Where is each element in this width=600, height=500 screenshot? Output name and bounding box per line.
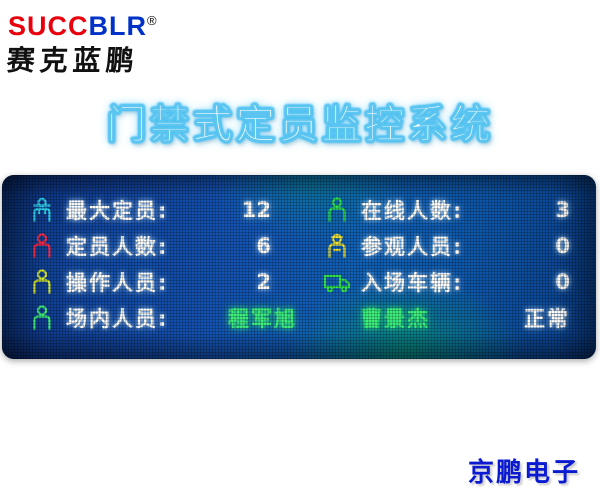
- led-value: 2: [228, 270, 297, 294]
- led-label: 在线人数:: [361, 195, 523, 225]
- led-value: 0: [523, 270, 596, 294]
- led-field-online-count: 在线人数: 3: [297, 192, 596, 228]
- footer-company-name: 京鹏电子: [468, 452, 580, 489]
- led-field-assigned-count: 定员人数: 6: [2, 228, 297, 264]
- led-field-onsite-status: 曹景杰 正常: [297, 300, 596, 336]
- person-icon: [26, 304, 58, 332]
- logo-chinese-wordmark: 赛克蓝鹏: [5, 43, 228, 79]
- led-field-max-capacity: 最大定员: 12: [2, 192, 297, 228]
- led-label: 操作人员:: [66, 267, 228, 297]
- led-value: 6: [228, 234, 297, 258]
- led-value: 12: [228, 198, 297, 222]
- person-cap-icon: [26, 196, 58, 224]
- person-helmet-icon: [321, 232, 353, 260]
- led-row: 最大定员: 12 在线人数: 3: [2, 192, 596, 228]
- person-icon: [321, 196, 353, 224]
- led-field-visitor-count: 参观人员: 0: [297, 228, 596, 264]
- led-label: 场内人员:: [66, 303, 220, 333]
- person-icon: [26, 232, 58, 260]
- led-display-panel: 最大定员: 12 在线人数: 3: [2, 175, 596, 359]
- logo-latin-succ: SUCC: [8, 11, 89, 41]
- led-label: 定员人数:: [66, 231, 228, 261]
- onsite-person-name: 程军旭: [220, 303, 297, 333]
- status-badge: 正常: [477, 303, 596, 333]
- led-row: 场内人员: 程军旭 曹景杰 正常: [2, 300, 596, 336]
- led-field-vehicles-entered: 入场车辆: 0: [297, 264, 596, 300]
- company-logo: SUCCBLR® 赛克蓝鹏: [8, 6, 228, 78]
- logo-latin-blr: BLR: [89, 11, 148, 41]
- onsite-person-name: 曹景杰: [353, 303, 477, 333]
- registered-trademark-icon: ®: [147, 13, 157, 28]
- led-label: 最大定员:: [66, 195, 228, 225]
- truck-icon: [321, 268, 353, 296]
- led-row: 定员人数: 6 参观人员: 0: [2, 228, 596, 264]
- led-field-operator-count: 操作人员: 2: [2, 264, 297, 300]
- page-title-text: 门禁式定员监控系统: [107, 92, 494, 150]
- led-label: 入场车辆:: [361, 267, 523, 297]
- led-field-onsite-personnel: 场内人员: 程军旭: [2, 300, 297, 336]
- led-label: 参观人员:: [361, 231, 523, 261]
- logo-latin-wordmark: SUCCBLR®: [8, 6, 228, 41]
- led-value: 3: [523, 198, 596, 222]
- led-rows-container: 最大定员: 12 在线人数: 3: [2, 192, 596, 336]
- led-row: 操作人员: 2 入场车辆: 0: [2, 264, 596, 300]
- led-value: 0: [523, 234, 596, 258]
- page-title: 门禁式定员监控系统: [0, 92, 600, 150]
- person-icon: [26, 268, 58, 296]
